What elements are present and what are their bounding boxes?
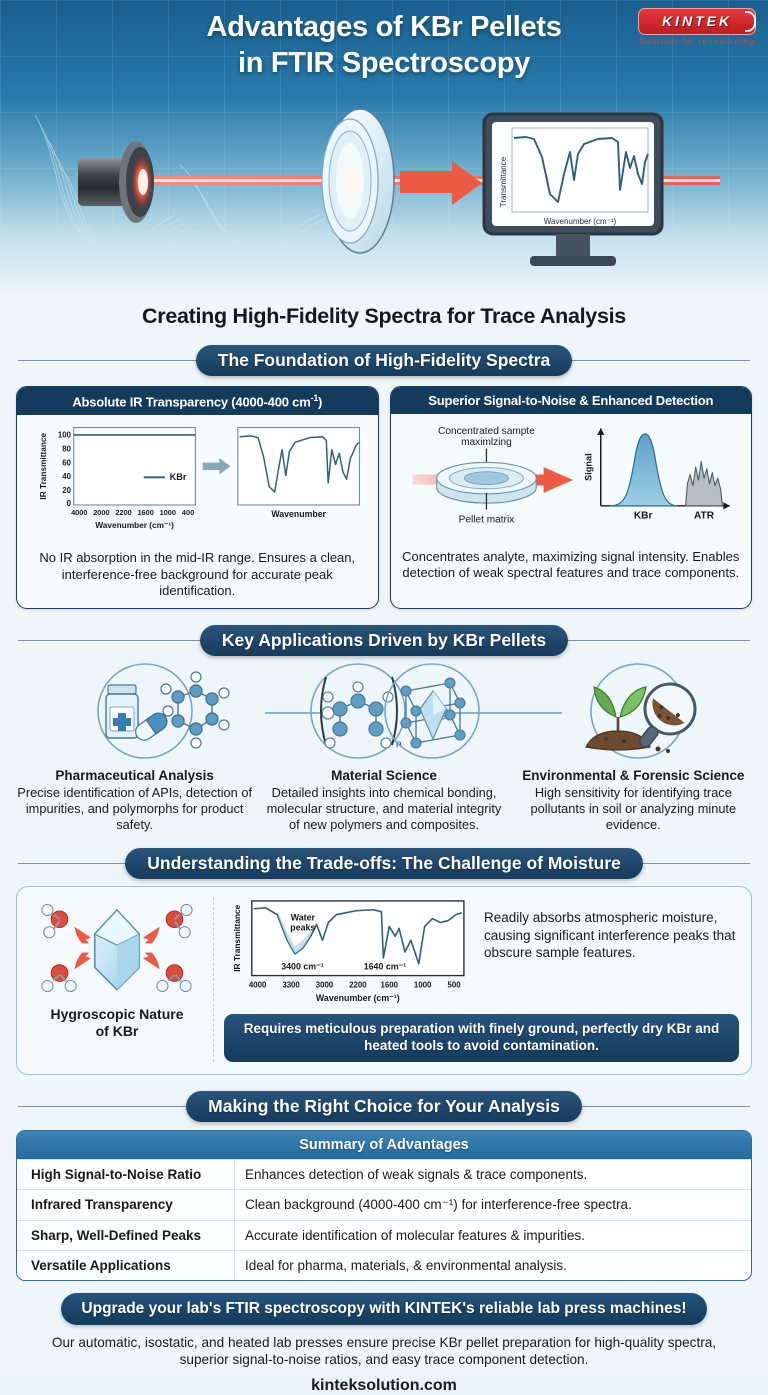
application-item: Environmental & Forensic Science High se… — [509, 768, 758, 832]
table-row: High Signal-to-Noise Ratio Enhances dete… — [17, 1159, 751, 1189]
application-item: Material Science Detailed insights into … — [259, 768, 508, 832]
applications-section: n — [10, 661, 758, 832]
table-cell-value: Ideal for pharma, materials, & environme… — [235, 1251, 751, 1280]
card-ir-transparency: Absolute IR Transparency (4000-400 cm-1)… — [16, 386, 379, 609]
card-title: Superior Signal-to-Noise & Enhanced Dete… — [391, 387, 752, 414]
moisture-spectrum-chart: IR Transmittance Water peaks 3400 cm⁻¹ 1… — [224, 897, 474, 1007]
card-description: Concentrates analyte, maximizing signal … — [399, 549, 744, 582]
y-tick: 40 — [62, 472, 71, 481]
x-axis-label: Wavenumber (cm⁻¹) — [95, 520, 174, 530]
x-tick: 500 — [448, 981, 462, 990]
y-tick: 60 — [62, 459, 71, 468]
y-tick: 100 — [58, 431, 72, 440]
soil-plant-magnifier-icon — [586, 664, 705, 761]
y-axis-label: IR Transmittance — [38, 433, 48, 500]
application-description: High sensitivity for identifying trace p… — [515, 785, 752, 832]
table-cell-value: Enhances detection of weak signals & tra… — [235, 1160, 751, 1189]
hygroscopic-caption: Hygroscopic Nature of KBr — [29, 1006, 205, 1039]
x-axis-label: Wavenumber — [271, 509, 326, 519]
table-cell-key: High Signal-to-Noise Ratio — [17, 1160, 235, 1189]
table-row: Versatile Applications Ideal for pharma,… — [17, 1250, 751, 1280]
water-molecule — [166, 905, 192, 938]
section-header-choice: Making the Right Choice for Your Analysi… — [18, 1091, 750, 1121]
arrow-icon — [203, 458, 231, 475]
section-pill-label: Making the Right Choice for Your Analysi… — [186, 1091, 582, 1122]
polymer-crystal-lattice-icon: n — [311, 664, 479, 758]
x-tick: 1600 — [381, 981, 399, 990]
peak-label-3400: 3400 cm⁻¹ — [281, 962, 324, 972]
footer-text: Our automatic, isostatic, and heated lab… — [34, 1334, 734, 1369]
section-pill-label: Key Applications Driven by KBr Pellets — [200, 625, 568, 656]
pellet-label-top2: maximlzing — [461, 437, 512, 448]
x-tick: 3300 — [282, 981, 300, 990]
application-title: Pharmaceutical Analysis — [16, 768, 253, 783]
sub-heading: Creating High-Fidelity Spectra for Trace… — [0, 304, 768, 329]
table-cell-value: Accurate identification of molecular fea… — [235, 1221, 751, 1250]
title-line-2: in FTIR Spectroscopy — [0, 46, 768, 82]
table-cell-key: Infrared Transparency — [17, 1190, 235, 1220]
x-tick: 2000 — [93, 508, 109, 517]
signal-y-label: Signal — [583, 453, 593, 481]
card-title: Absolute IR Transparency (4000-400 cm-1) — [17, 387, 378, 415]
x-tick: 2200 — [349, 981, 367, 990]
logo-wordmark: KINTEK — [641, 13, 753, 29]
x-tick: 4000 — [249, 981, 267, 990]
moisture-chart-and-note: IR Transmittance Water peaks 3400 cm⁻¹ 1… — [224, 897, 739, 1007]
kintek-logo: KINTEK Solution for researching — [638, 8, 756, 46]
x-tick: 400 — [182, 508, 194, 517]
moisture-right-column: IR Transmittance Water peaks 3400 cm⁻¹ 1… — [224, 897, 739, 1061]
application-description: Precise identification of APIs, detectio… — [16, 785, 253, 832]
x-tick: 1600 — [137, 508, 153, 517]
card-signal-to-noise: Superior Signal-to-Noise & Enhanced Dete… — [390, 386, 753, 609]
application-title: Material Science — [265, 768, 502, 783]
hygroscopic-illustration-column: Hygroscopic Nature of KBr — [29, 897, 214, 1061]
water-molecule — [42, 905, 68, 938]
monitor-x-label: Wavenumber (cm⁻¹) — [544, 217, 617, 226]
application-item: Pharmaceutical Analysis Precise identifi… — [10, 768, 259, 832]
flow-arrow-icon — [400, 161, 482, 205]
water-crystal-icon — [29, 897, 205, 999]
applications-text-row: Pharmaceutical Analysis Precise identifi… — [10, 768, 758, 832]
logo-tagline: Solution for researching — [638, 36, 756, 46]
card-body: 100 80 60 40 20 0 4000 2000 2200 1600 10… — [17, 415, 378, 608]
table-cell-value: Clean background (4000-400 cm⁻¹) for int… — [235, 1190, 751, 1220]
x-tick: 2200 — [115, 508, 131, 517]
cta-banner[interactable]: Upgrade your lab's FTIR spectroscopy wit… — [61, 1293, 706, 1325]
monitor-y-label: Transmittance — [499, 156, 508, 207]
svg-text:peaks: peaks — [290, 923, 315, 933]
water-molecule — [42, 965, 76, 992]
card-description: No IR absorption in the mid-IR range. En… — [25, 550, 370, 599]
application-description: Detailed insights into chemical bonding,… — [265, 785, 502, 832]
hero-banner: Transmittance Wavenumber (cm⁻¹) Advantag… — [0, 0, 768, 290]
summary-table: Summary of Advantages High Signal-to-Noi… — [16, 1130, 752, 1281]
pill-bottle-molecule-icon — [98, 664, 229, 758]
section-pill-label: The Foundation of High-Fidelity Spectra — [196, 345, 573, 376]
y-tick: 80 — [62, 445, 71, 454]
logo-badge: KINTEK — [638, 8, 756, 35]
card-body: Concentrated sampte maximlzing — [391, 414, 752, 591]
bar-label-atr: ATR — [693, 511, 714, 522]
water-molecule — [157, 965, 191, 992]
pellet-and-signal-chart: Concentrated sampte maximlzing — [399, 421, 744, 539]
moisture-requirement-banner: Requires meticulous preparation with fin… — [224, 1014, 739, 1061]
kbr-pellet-disc-icon — [322, 109, 394, 253]
section-header-foundation: The Foundation of High-Fidelity Spectra — [18, 345, 750, 375]
y-tick: 0 — [67, 499, 72, 508]
table-row: Sharp, Well-Defined Peaks Accurate ident… — [17, 1220, 751, 1250]
y-tick: 20 — [62, 486, 71, 495]
x-tick: 1000 — [160, 508, 176, 517]
section-header-applications: Key Applications Driven by KBr Pellets — [18, 625, 750, 655]
table-header: Summary of Advantages — [17, 1131, 751, 1159]
application-title: Environmental & Forensic Science — [515, 768, 752, 783]
monitor-spectrum-display: Transmittance Wavenumber (cm⁻¹) — [480, 112, 666, 282]
table-cell-key: Sharp, Well-Defined Peaks — [17, 1221, 235, 1250]
bar-label-kbr: KBr — [633, 511, 652, 522]
legend-label: KBr — [170, 472, 187, 482]
applications-icon-row: n — [10, 661, 758, 761]
table-cell-key: Versatile Applications — [17, 1251, 235, 1280]
peak-label-1640: 1640 cm⁻¹ — [364, 962, 407, 972]
moisture-note: Readily absorbs atmospheric moisture, ca… — [484, 897, 739, 1007]
section-header-tradeoffs: Understanding the Trade-offs: The Challe… — [18, 848, 750, 878]
laser-emitter-icon — [78, 141, 154, 223]
foundation-cards: Absolute IR Transparency (4000-400 cm-1)… — [16, 386, 752, 609]
pellet-label-bottom: Pellet matrix — [458, 514, 514, 525]
x-tick: 4000 — [71, 508, 87, 517]
ir-transparency-charts: 100 80 60 40 20 0 4000 2000 2200 1600 10… — [25, 422, 370, 540]
infographic-page: Transmittance Wavenumber (cm⁻¹) Advantag… — [0, 0, 768, 1376]
water-peaks-annotation: Water — [291, 913, 316, 923]
table-row: Infrared Transparency Clean background (… — [17, 1189, 751, 1220]
x-axis-label: Wavenumber (cm⁻¹) — [316, 993, 400, 1003]
x-tick: 3000 — [316, 981, 334, 990]
pellet-label-top: Concentrated sampte — [438, 426, 535, 437]
section-pill-label: Understanding the Trade-offs: The Challe… — [125, 848, 643, 879]
moisture-panel: Hygroscopic Nature of KBr IR Transmittan… — [16, 886, 752, 1074]
x-tick: 1000 — [414, 981, 432, 990]
y-axis-label: IR Transmittance — [232, 905, 242, 972]
website-link[interactable]: kinteksolution.com — [0, 1377, 768, 1395]
